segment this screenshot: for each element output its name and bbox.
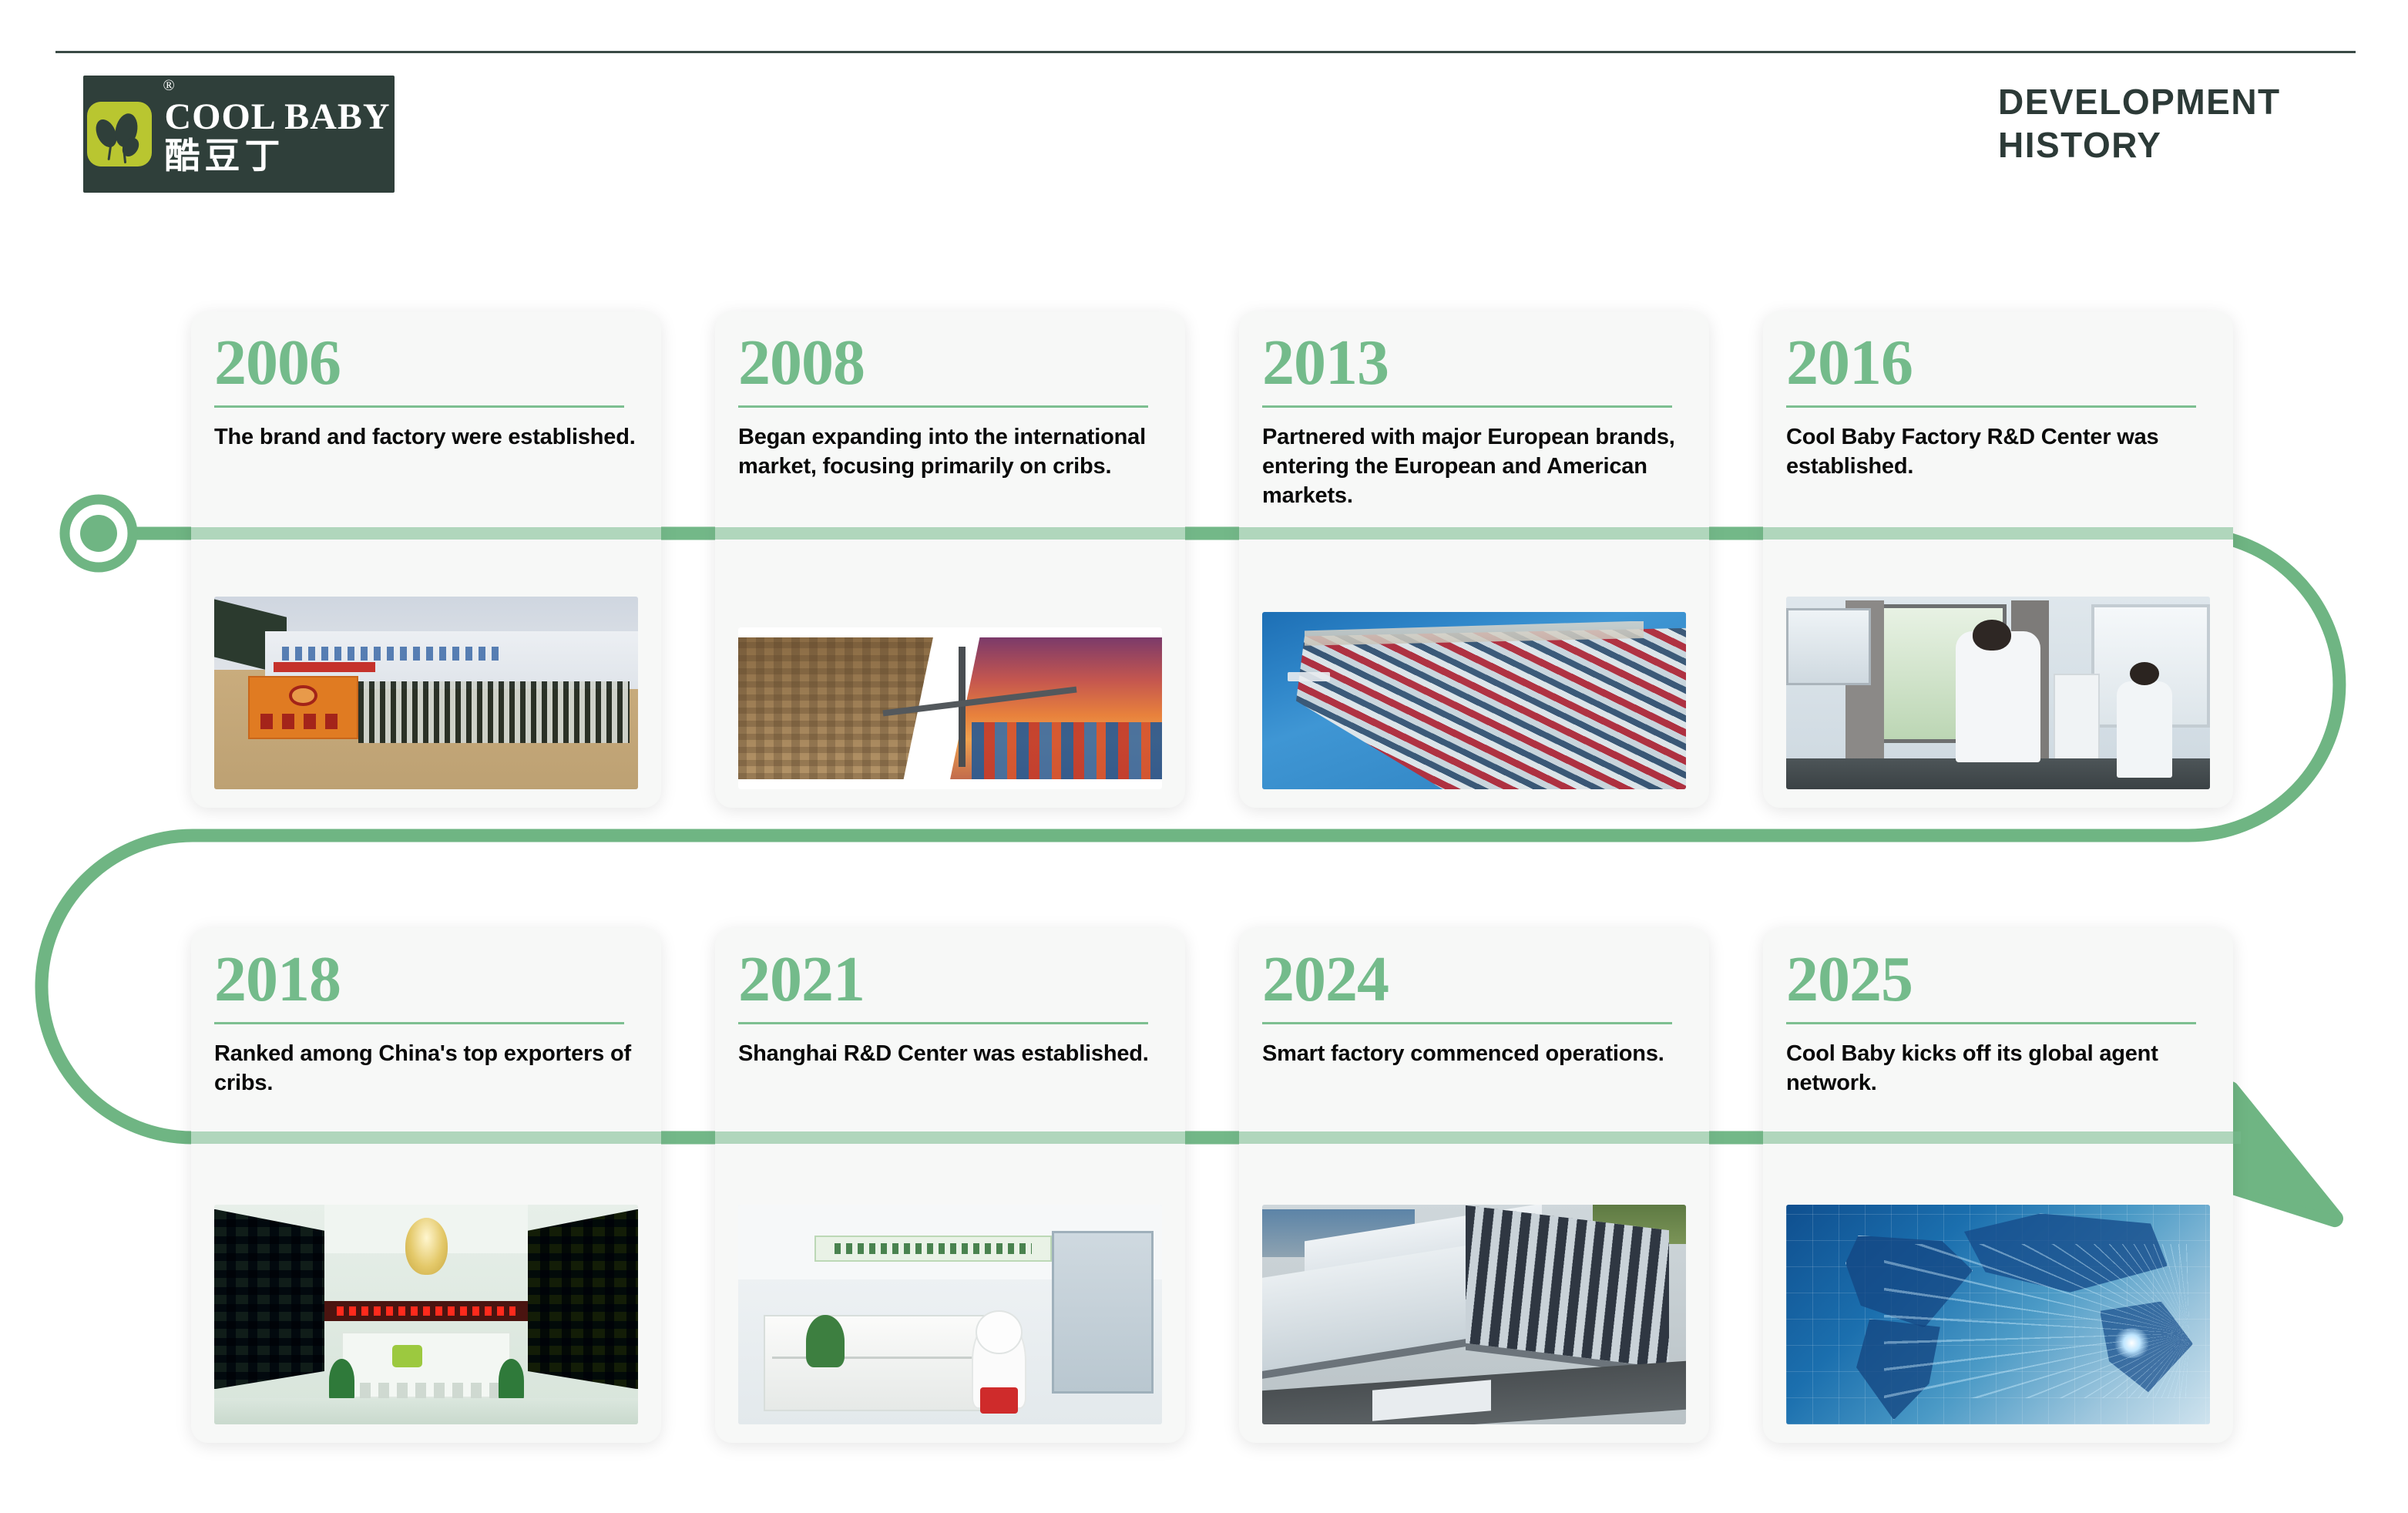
milestone-description: Began expanding into the international m… (738, 423, 1162, 481)
brand-logo: ® COOL BABY 酷豆丁 (83, 76, 395, 193)
milestone-card-2018[interactable]: 2018 Ranked among China's top exporters … (191, 928, 661, 1443)
year-underline (1786, 1022, 2196, 1024)
sprout-leaf-icon (87, 102, 152, 166)
warehouse-and-port-photo (738, 627, 1162, 789)
global-network-map-photo (1786, 1205, 2210, 1424)
page-title: DEVELOPMENT HISTORY (1998, 80, 2353, 166)
milestone-card-2016[interactable]: 2016 Cool Baby Factory R&D Center was es… (1763, 311, 2233, 808)
timeline-start-node (65, 499, 133, 567)
logo-text-chinese: 酷豆丁 (164, 137, 390, 174)
milestone-description: The brand and factory were established. (214, 423, 638, 452)
milestone-card-2025[interactable]: 2025 Cool Baby kicks off its global agen… (1763, 928, 2233, 1443)
milestone-description: Smart factory commenced operations. (1262, 1040, 1686, 1069)
container-port-aerial-photo (1262, 612, 1686, 789)
header-divider (55, 51, 2356, 53)
milestone-year: 2021 (738, 948, 1162, 1011)
milestone-year: 2013 (1262, 331, 1686, 395)
year-underline (738, 405, 1148, 408)
year-underline (1262, 405, 1672, 408)
reception-desk-photo (738, 1205, 1162, 1424)
milestone-year: 2008 (738, 331, 1162, 395)
milestone-card-2013[interactable]: 2013 Partnered with major European brand… (1239, 311, 1709, 808)
milestone-card-2008[interactable]: 2008 Began expanding into the internatio… (715, 311, 1185, 808)
year-underline (1262, 1022, 1672, 1024)
rnd-laboratory-photo (1786, 597, 2210, 789)
logo-text-english: COOL BABY (164, 99, 390, 136)
factory-gate-photo (214, 597, 638, 789)
year-underline (1786, 405, 2196, 408)
milestone-description: Ranked among China's top exporters of cr… (214, 1040, 638, 1098)
milestone-year: 2016 (1786, 331, 2210, 395)
milestone-card-2024[interactable]: 2024 Smart factory commenced operations. (1239, 928, 1709, 1443)
milestone-description: Cool Baby kicks off its global agent net… (1786, 1040, 2210, 1098)
registered-mark: ® (163, 77, 174, 95)
milestone-card-2006[interactable]: 2006 The brand and factory were establis… (191, 311, 661, 808)
year-underline (214, 405, 624, 408)
milestone-description: Partnered with major European brands, en… (1262, 423, 1686, 510)
milestone-year: 2024 (1262, 948, 1686, 1011)
milestone-year: 2006 (214, 331, 638, 395)
milestone-year: 2018 (214, 948, 638, 1011)
milestone-description: Shanghai R&D Center was established. (738, 1040, 1162, 1069)
award-lobby-photo (214, 1205, 638, 1424)
year-underline (214, 1022, 624, 1024)
milestone-card-2021[interactable]: 2021 Shanghai R&D Center was established… (715, 928, 1185, 1443)
milestone-year: 2025 (1786, 948, 2210, 1011)
year-underline (738, 1022, 1148, 1024)
smart-factory-aerial-photo (1262, 1205, 1686, 1424)
milestone-description: Cool Baby Factory R&D Center was establi… (1786, 423, 2210, 481)
